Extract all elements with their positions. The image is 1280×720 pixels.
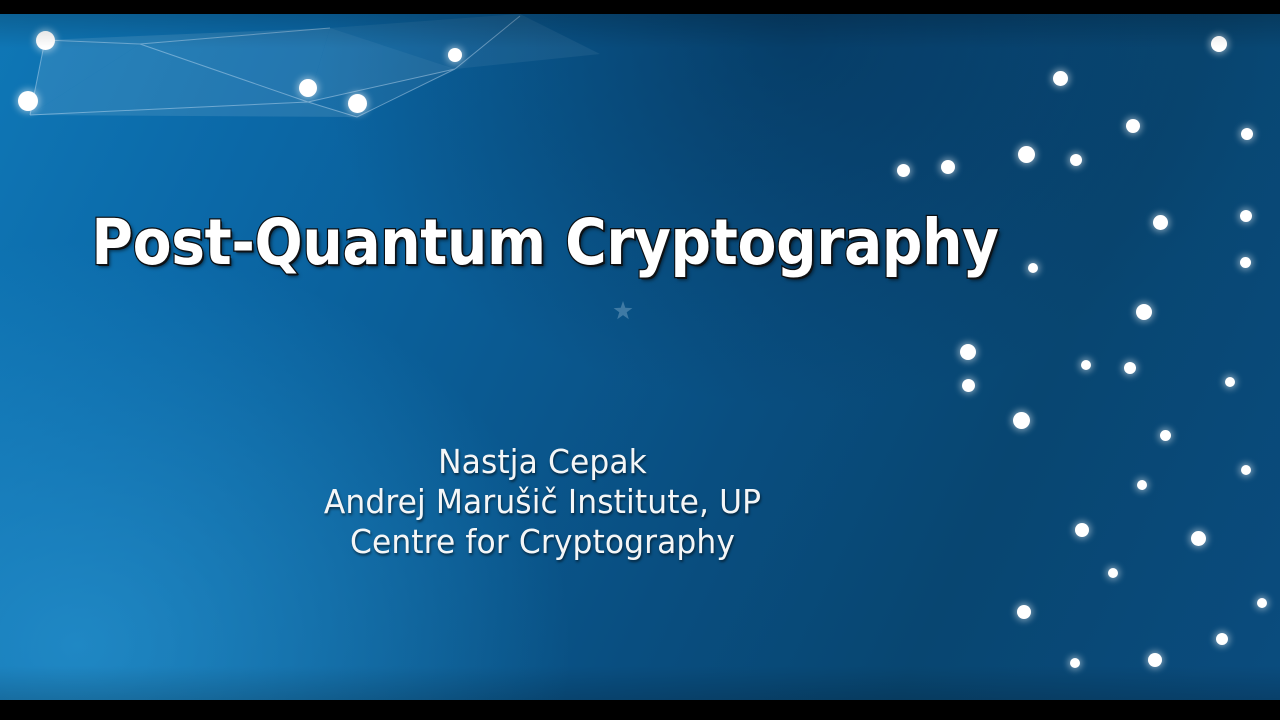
letterbox-bar-top	[0, 0, 1280, 14]
subtitle-block: Nastja Cepak Andrej Marušič Institute, U…	[0, 442, 1085, 562]
video-slide-frame: Post-Quantum Cryptography Nastja Cepak A…	[0, 0, 1280, 720]
slide-canvas: Post-Quantum Cryptography Nastja Cepak A…	[0, 14, 1280, 700]
sparkle-star-icon	[612, 300, 634, 322]
low-poly-mesh-right	[720, 14, 1280, 700]
presenter-name: Nastja Cepak	[27, 442, 1058, 482]
affiliation-institute: Andrej Marušič Institute, UP	[27, 482, 1058, 522]
title-block: Post-Quantum Cryptography	[0, 210, 1090, 276]
affiliation-centre: Centre for Cryptography	[27, 522, 1058, 562]
mesh-upper-left	[0, 14, 620, 234]
slide-title: Post-Quantum Cryptography	[91, 210, 998, 276]
letterbox-bar-bottom	[0, 700, 1280, 720]
